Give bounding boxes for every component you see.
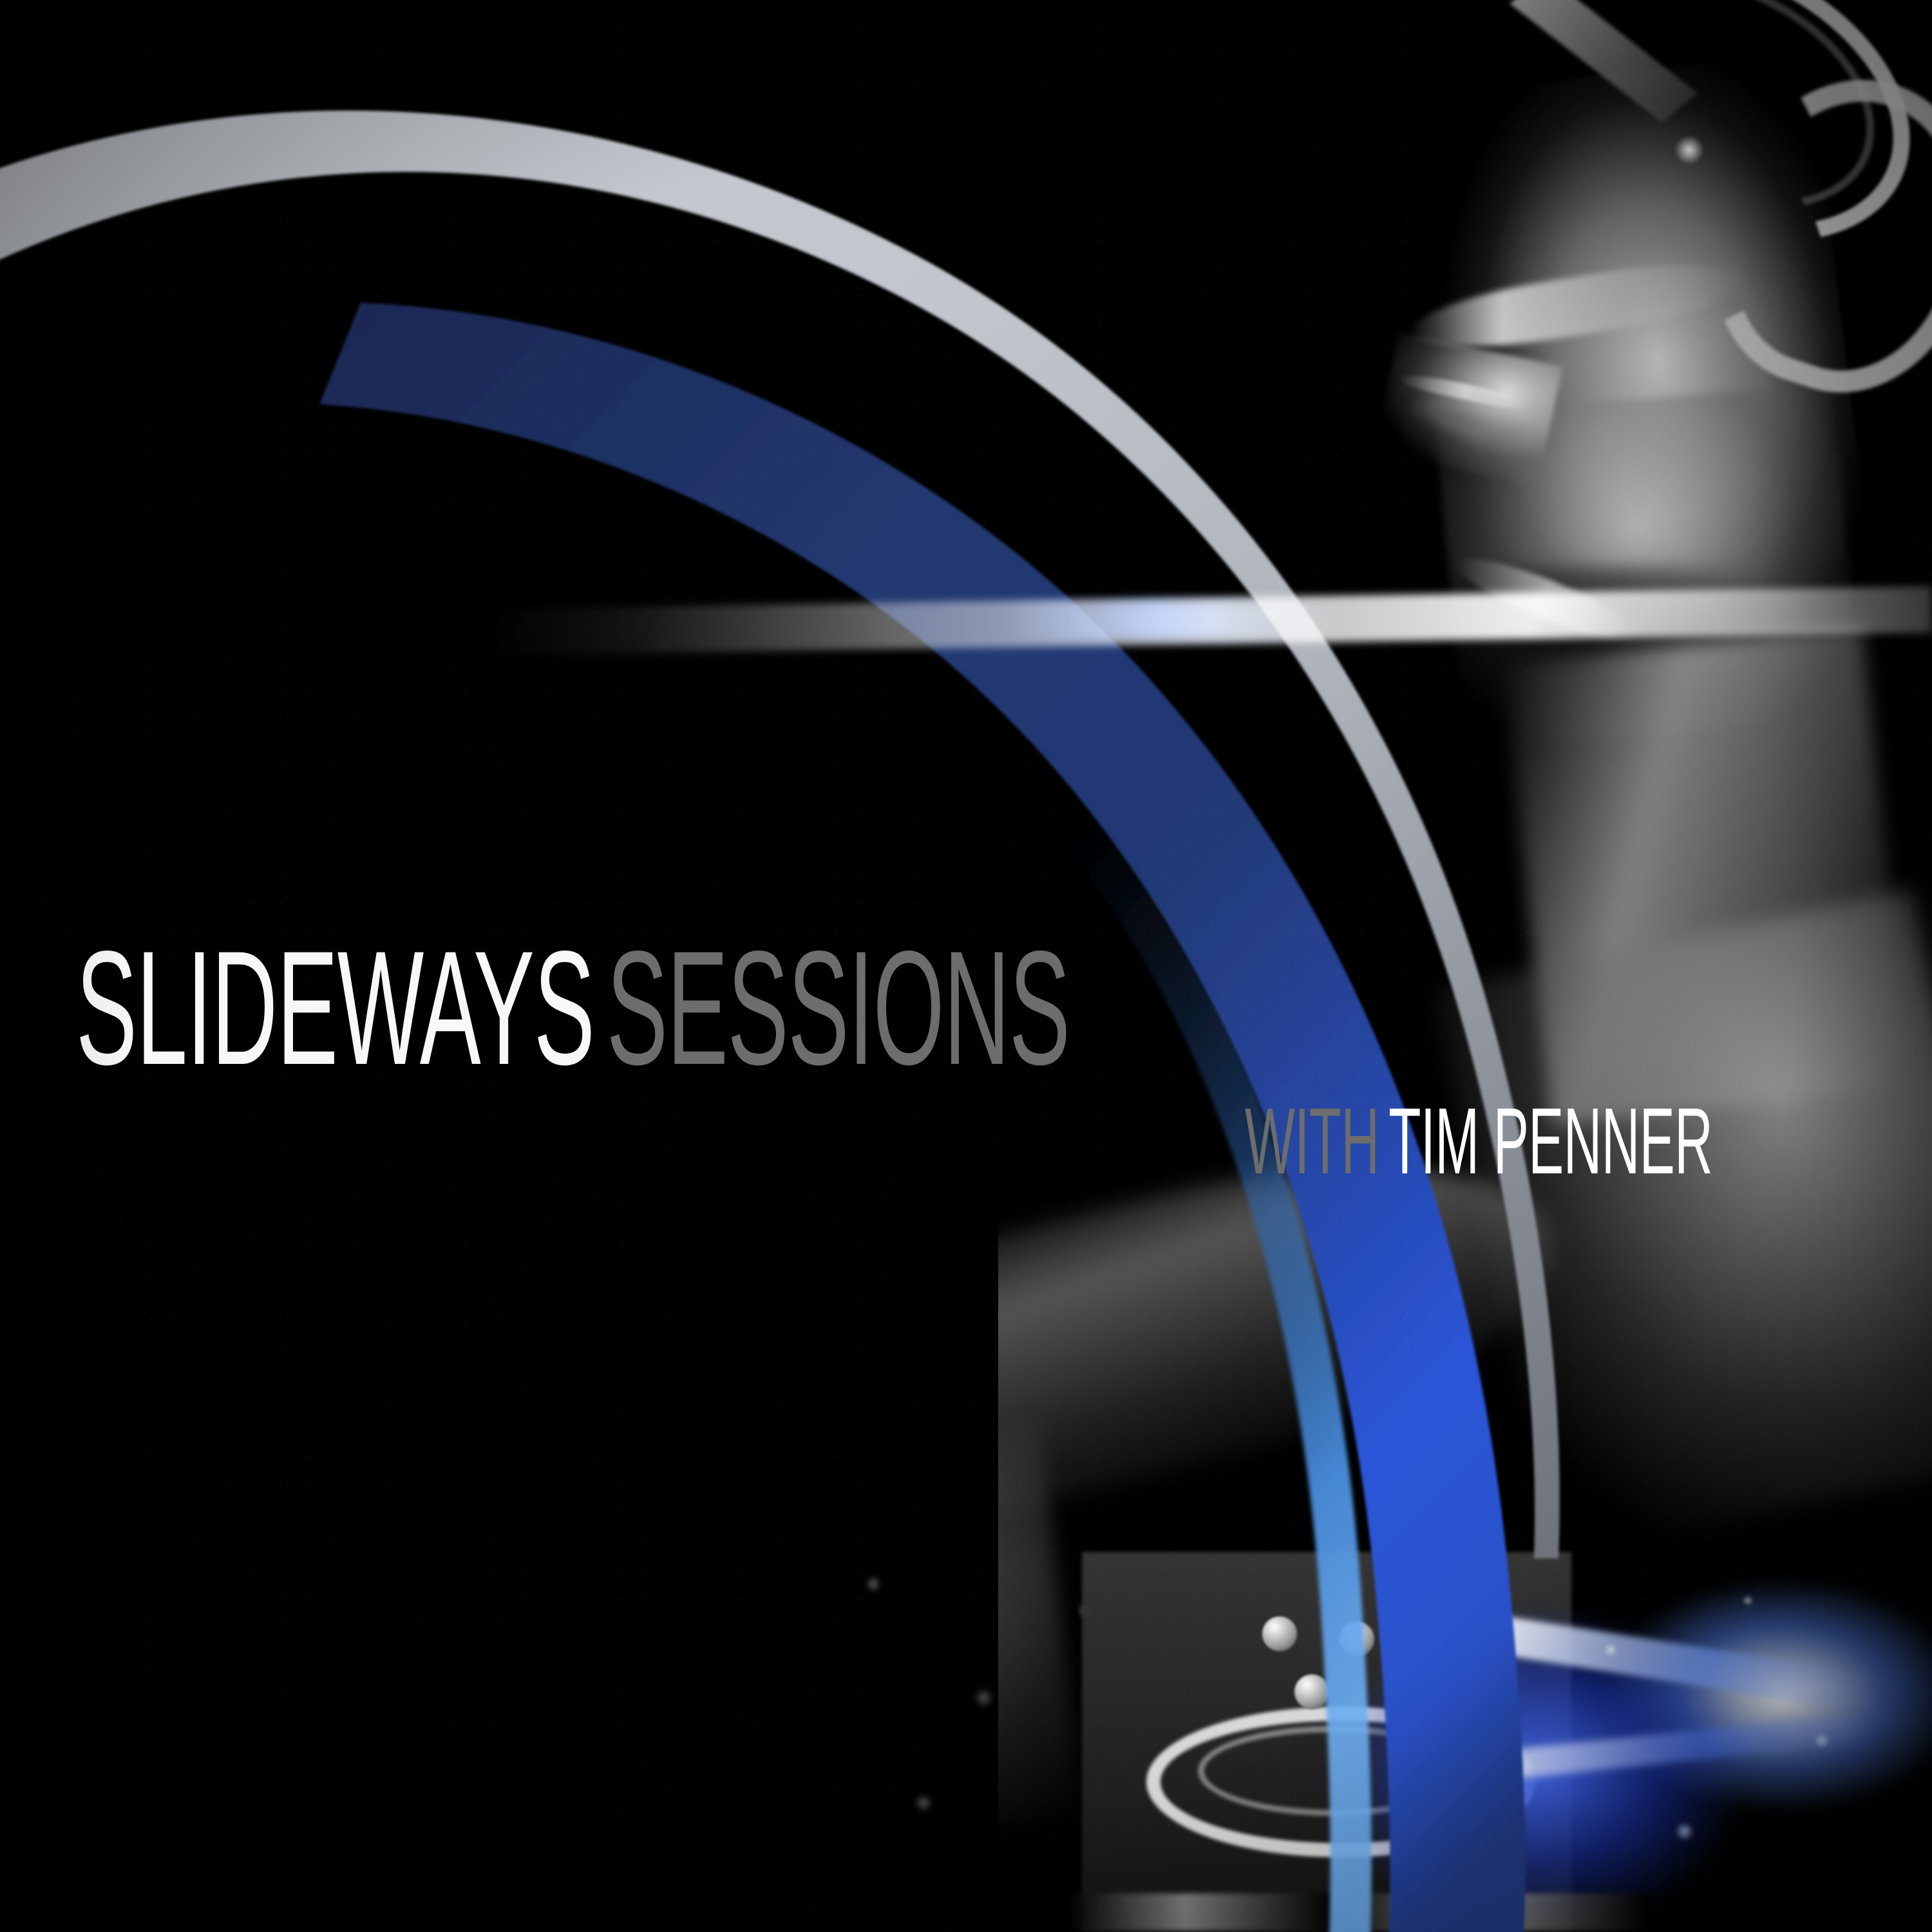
title-slideways: SLIDEWAYS	[76, 918, 594, 1099]
album-cover: SLIDEWAYSSESSIONS WITHTIM PENNER	[0, 0, 1932, 1932]
light-streak-blue-glow	[1005, 601, 1340, 639]
title-sessions: SESSIONS	[607, 918, 1070, 1099]
byline: WITHTIM PENNER	[1245, 1102, 1312, 1181]
byline-artist: TIM PENNER	[1388, 1088, 1712, 1193]
byline-with: WITH	[1245, 1088, 1379, 1193]
title-primary-line: SLIDEWAYSSESSIONS	[76, 943, 804, 1074]
title-block: SLIDEWAYSSESSIONS WITHTIM PENNER	[76, 943, 1364, 1180]
